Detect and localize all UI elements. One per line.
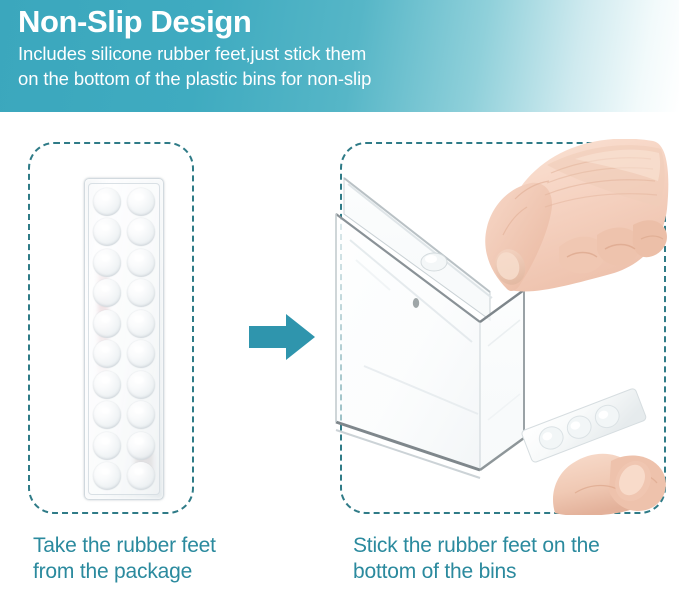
caption-step-1: Take the rubber feet from the package xyxy=(33,533,253,585)
rubber-foot-dome xyxy=(127,249,155,277)
rubber-foot-dome xyxy=(93,401,121,429)
header-subtitle-line-1: Includes silicone rubber feet,just stick… xyxy=(18,42,618,67)
rubber-foot-cell xyxy=(91,309,124,339)
rubber-foot-cell xyxy=(125,462,158,492)
blister-pack-illustration xyxy=(84,178,164,500)
header-text-block: Non-Slip Design Includes silicone rubber… xyxy=(18,2,618,91)
rubber-foot-cell xyxy=(125,218,158,248)
rubber-foot-dome xyxy=(127,462,155,490)
rubber-foot-cell xyxy=(125,431,158,461)
rubber-foot-dome xyxy=(93,340,121,368)
rubber-foot-dome xyxy=(127,279,155,307)
rubber-foot-cell xyxy=(125,370,158,400)
rubber-foot-dome xyxy=(93,371,121,399)
hand-pressing-rubber-foot xyxy=(455,139,670,299)
rubber-foot-dome xyxy=(127,401,155,429)
rubber-foot-cell xyxy=(125,248,158,278)
header-banner: Non-Slip Design Includes silicone rubber… xyxy=(0,0,679,112)
rubber-foot-dome xyxy=(93,310,121,338)
rubber-feet-grid xyxy=(91,187,157,491)
rubber-foot-dome xyxy=(93,432,121,460)
hand-holding-rubber-feet-strip xyxy=(515,385,675,515)
rubber-foot-dome xyxy=(127,371,155,399)
header-subtitle-line-2: on the bottom of the plastic bins for no… xyxy=(18,67,618,92)
rubber-foot-dome xyxy=(93,462,121,490)
rubber-foot-cell xyxy=(91,370,124,400)
rubber-foot-dome xyxy=(127,432,155,460)
caption-step-2: Stick the rubber feet on the bottom of t… xyxy=(353,533,653,585)
arrow-right-icon xyxy=(249,312,315,362)
rubber-foot-cell xyxy=(125,279,158,309)
rubber-foot-cell xyxy=(91,401,124,431)
rubber-foot-dome xyxy=(127,188,155,216)
rubber-foot-cell xyxy=(91,462,124,492)
rubber-foot-cell xyxy=(91,218,124,248)
rubber-foot-cell xyxy=(91,248,124,278)
rubber-foot-dome xyxy=(93,249,121,277)
rubber-foot-cell xyxy=(91,187,124,217)
rubber-foot-dome xyxy=(93,279,121,307)
page-title: Non-Slip Design xyxy=(18,2,618,42)
rubber-foot-cell xyxy=(125,309,158,339)
rubber-foot-cell xyxy=(91,340,124,370)
rubber-foot-dome xyxy=(127,340,155,368)
rubber-foot-cell xyxy=(125,187,158,217)
rubber-foot-dome xyxy=(127,218,155,246)
rubber-foot-dome xyxy=(93,218,121,246)
rubber-foot-dome xyxy=(93,188,121,216)
rubber-foot-cell xyxy=(91,279,124,309)
rubber-foot-cell xyxy=(125,401,158,431)
rubber-foot-cell xyxy=(125,340,158,370)
rubber-foot-dome xyxy=(127,310,155,338)
rubber-foot-cell xyxy=(91,431,124,461)
